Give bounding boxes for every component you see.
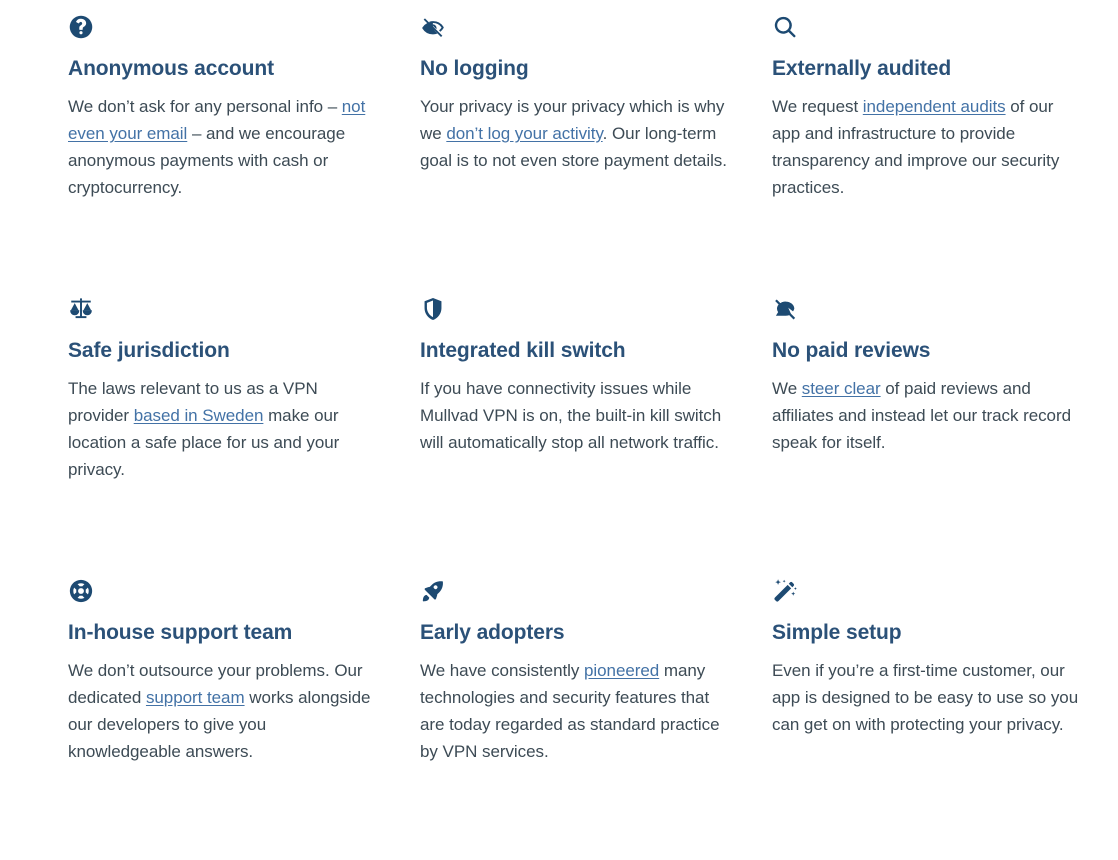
feature-title: Simple setup [772, 620, 1082, 645]
feature-card: Simple setupEven if you’re a first-time … [772, 578, 1082, 860]
rocket-icon [420, 578, 730, 608]
feature-text: We [772, 379, 802, 398]
question-circle-icon [68, 14, 378, 44]
magic-wand-icon [772, 578, 1082, 608]
megaphone-off-icon [772, 296, 1082, 326]
feature-link[interactable]: pioneered [584, 661, 659, 680]
feature-text: Even if you’re a first-time customer, ou… [772, 661, 1078, 734]
feature-link[interactable]: independent audits [863, 97, 1006, 116]
feature-description: The laws relevant to us as a VPN provide… [68, 375, 378, 483]
feature-title: In-house support team [68, 620, 378, 645]
feature-link[interactable]: don’t log your activity [446, 124, 602, 143]
feature-card: No paid reviewsWe steer clear of paid re… [772, 296, 1082, 578]
feature-description: We steer clear of paid reviews and affil… [772, 375, 1082, 456]
eye-off-icon [420, 14, 730, 44]
feature-text: We have consistently [420, 661, 584, 680]
feature-card: Anonymous accountWe don’t ask for any pe… [68, 14, 378, 296]
feature-title: No paid reviews [772, 338, 1082, 363]
feature-link[interactable]: steer clear [802, 379, 881, 398]
feature-description: If you have connectivity issues while Mu… [420, 375, 730, 456]
feature-card: Integrated kill switchIf you have connec… [420, 296, 730, 578]
feature-title: Safe jurisdiction [68, 338, 378, 363]
feature-card: Safe jurisdictionThe laws relevant to us… [68, 296, 378, 578]
feature-card: In-house support teamWe don’t outsource … [68, 578, 378, 860]
feature-text: We don’t ask for any personal info – [68, 97, 342, 116]
scales-icon [68, 296, 378, 326]
feature-description: We have consistently pioneered many tech… [420, 657, 730, 765]
feature-title: Early adopters [420, 620, 730, 645]
feature-link[interactable]: support team [146, 688, 245, 707]
feature-title: Integrated kill switch [420, 338, 730, 363]
shield-icon [420, 296, 730, 326]
feature-text: We request [772, 97, 863, 116]
features-grid: Anonymous accountWe don’t ask for any pe… [0, 0, 1118, 837]
feature-description: Your privacy is your privacy which is wh… [420, 93, 730, 174]
feature-title: Externally audited [772, 56, 1082, 81]
feature-description: We don’t ask for any personal info – not… [68, 93, 378, 201]
feature-description: We don’t outsource your problems. Our de… [68, 657, 378, 765]
feature-title: Anonymous account [68, 56, 378, 81]
feature-description: Even if you’re a first-time customer, ou… [772, 657, 1082, 738]
feature-description: We request independent audits of our app… [772, 93, 1082, 201]
feature-card: No loggingYour privacy is your privacy w… [420, 14, 730, 296]
lifebuoy-icon [68, 578, 378, 608]
feature-text: If you have connectivity issues while Mu… [420, 379, 721, 452]
feature-card: Externally auditedWe request independent… [772, 14, 1082, 296]
search-icon [772, 14, 1082, 44]
feature-card: Early adoptersWe have consistently pione… [420, 578, 730, 860]
feature-link[interactable]: based in Sweden [134, 406, 264, 425]
feature-title: No logging [420, 56, 730, 81]
